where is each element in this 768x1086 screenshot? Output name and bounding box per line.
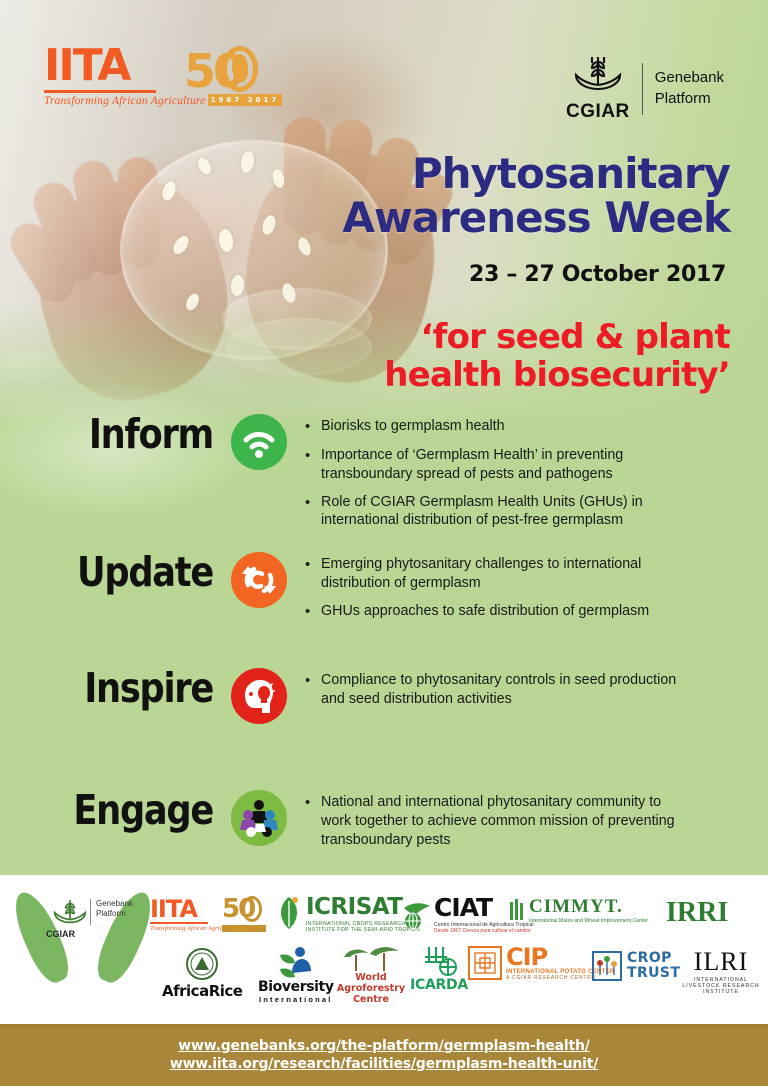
footer-link-genebanks[interactable]: www.genebanks.org/the-platform/germplasm… [178,1038,589,1054]
partner-anniversary-oval [242,896,262,922]
partner-genebank-line-1: Genebank [96,899,133,909]
bullet-text: GHUs approaches to safe distribution of … [321,602,649,622]
poster-root: IITA Transforming African Agriculture 50… [0,0,768,1086]
partner-irri-wordmark: IRRI [666,899,728,927]
partner-logo-ilri: ILRI INTERNATIONAL LIVESTOCK RESEARCH IN… [674,949,768,995]
icarda-wheat-globe-icon [415,945,463,977]
section-engage: Engage • National and international phyt… [28,790,695,859]
list-item: • GHUs approaches to safe distribution o… [305,602,695,622]
section-update: Update • Emerging phytosanitary challeng… [28,552,695,631]
partner-cimmyt-sub: International Maize and Wheat Improvemen… [529,918,648,924]
bullet-dot: • [305,493,321,531]
partner-icarda-wordmark: ICARDA [404,977,474,993]
crop-trust-plants-icon [592,951,622,981]
partner-logo-divider [90,899,91,925]
section-update-label: Update [54,552,213,593]
section-inspire: Inspire • Compliance to phytosanitary co… [28,668,695,724]
section-inspire-bullets: • Compliance to phytosanitary controls i… [305,668,695,718]
bullet-text: Biorisks to germplasm health [321,417,505,437]
event-tagline-line-2: health biosecurity’ [310,356,730,394]
broadcast-icon [231,414,287,470]
section-inform: Inform • Biorisks to germplasm health • … [28,414,695,539]
partner-waf-line-3: Centre [328,995,414,1006]
bullet-dot: • [305,417,321,437]
partner-anniversary-bar [222,925,266,932]
partner-genebank-label: Genebank Platform [96,899,133,919]
cgiar-wordmark: CGIAR [566,101,630,123]
event-tagline-line-1: ‘for seed & plant [310,318,730,356]
bioversity-person-leaf-icon [274,945,318,979]
partner-logo-cgiar-genebank-platform: CGIAR Genebank Platform [22,879,142,999]
africa-map-icon [232,54,248,82]
cip-inca-motif-icon [468,946,502,980]
icrisat-leaf-icon [276,895,302,933]
list-item: • Compliance to phytosanitary controls i… [305,671,695,709]
partner-bioversity-wordmark: Bioversity [258,979,334,995]
footer-top-rule [0,1024,768,1027]
bullet-dot: • [305,793,321,850]
list-item: • National and international phytosanita… [305,793,695,850]
genebank-line-1: Genebank [655,68,724,88]
partner-logo-bioversity-international: Bioversity International [258,945,334,1004]
event-date: 23 – 27 October 2017 [326,262,726,287]
ciat-globe-leaf-icon [402,900,432,930]
section-inspire-label: Inspire [54,668,213,709]
bullet-dot: • [305,602,321,622]
footer-link-bar: www.genebanks.org/the-platform/germplasm… [0,1024,768,1086]
bullet-dot: • [305,555,321,593]
partner-logo-band: CGIAR Genebank Platform IITA Transformin… [0,875,768,1023]
footer-link-iita[interactable]: www.iita.org/research/facilities/germpla… [170,1056,598,1072]
partner-cimmyt-wordmark: CIMMYT. [529,897,648,916]
page-title: Phytosanitary Awareness Week [330,152,730,240]
section-update-bullets: • Emerging phytosanitary challenges to i… [305,552,695,631]
cgiar-mark: CGIAR [566,54,630,123]
partner-logo-africarice: AfricaRice [162,947,242,1000]
partner-cgiar-wordmark: CGIAR [46,929,75,939]
bullet-text: Compliance to phytosanitary controls in … [321,671,695,709]
partner-logo-crop-trust: CROP TRUST [592,951,680,981]
bullet-text: Role of CGIAR Germplasm Health Units (GH… [321,493,695,531]
cgiar-wheat-icon [572,54,624,94]
iita-logo: IITA Transforming African Agriculture 50… [44,44,274,114]
section-inform-bullets: • Biorisks to germplasm health • Importa… [305,414,695,539]
page-title-line-1: Phytosanitary [330,152,730,196]
cimmyt-wheat-icon [508,898,526,924]
partner-logo-cimmyt: CIMMYT. International Maize and Wheat Im… [508,897,648,924]
acacia-trees-icon [340,945,402,973]
partner-logo-irri: IRRI [666,899,728,927]
list-item: • Role of CGIAR Germplasm Health Units (… [305,493,695,531]
list-item: • Biorisks to germplasm health [305,417,695,437]
anniversary-years: 1967 2017 [208,94,282,106]
partner-ilri-sub-2: LIVESTOCK RESEARCH INSTITUTE [674,983,768,995]
bullet-text: Importance of ‘Germplasm Health’ in prev… [321,446,695,484]
bullet-dot: • [305,671,321,709]
cgiar-wheat-icon [52,897,88,927]
bullet-text: Emerging phytosanitary challenges to int… [321,555,695,593]
partner-logo-icrisat: ICRISAT INTERNATIONAL CROPS RESEARCH INS… [276,895,420,933]
head-lightbulb-icon [231,668,287,724]
genebank-platform-label: Genebank Platform [655,68,724,109]
partner-ciat-sub-2: Desde 1967 Ciencia para cultivar el camb… [434,928,533,934]
bullet-dot: • [305,446,321,484]
logo-divider [642,63,643,115]
partner-logo-icarda: ICARDA [404,945,474,993]
list-item: • Importance of ‘Germplasm Health’ in pr… [305,446,695,484]
cgiar-genebank-platform-logo: CGIAR Genebank Platform [566,54,724,123]
refresh-cycle-icon [231,552,287,608]
section-engage-bullets: • National and international phytosanita… [305,790,695,859]
list-item: • Emerging phytosanitary challenges to i… [305,555,695,593]
partner-iita-50-anniversary: 50 [222,893,264,931]
partner-africarice-wordmark: AfricaRice [162,982,242,1000]
partner-ilri-wordmark: ILRI [674,949,768,975]
partner-bioversity-sub: International [258,995,334,1004]
partner-logo-world-agroforestry-centre: World Agroforestry Centre [328,945,414,1006]
partner-logo-iita: IITA Transforming African Agriculture 50 [150,897,238,932]
partner-croptrust-line-2: TRUST [627,966,680,981]
genebank-line-2: Platform [655,89,724,109]
iita-50th-anniversary-logo: 50 1967 2017 [184,40,262,108]
partner-croptrust-line-1: CROP [627,951,680,966]
partner-genebank-line-2: Platform [96,909,133,919]
africarice-seal-icon [182,947,222,981]
event-tagline: ‘for seed & plant health biosecurity’ [310,318,730,394]
section-inform-label: Inform [54,414,213,455]
bullet-text: National and international phytosanitary… [321,793,695,850]
section-engage-label: Engage [54,790,213,831]
page-title-line-2: Awareness Week [330,196,730,240]
community-people-icon [231,790,287,846]
